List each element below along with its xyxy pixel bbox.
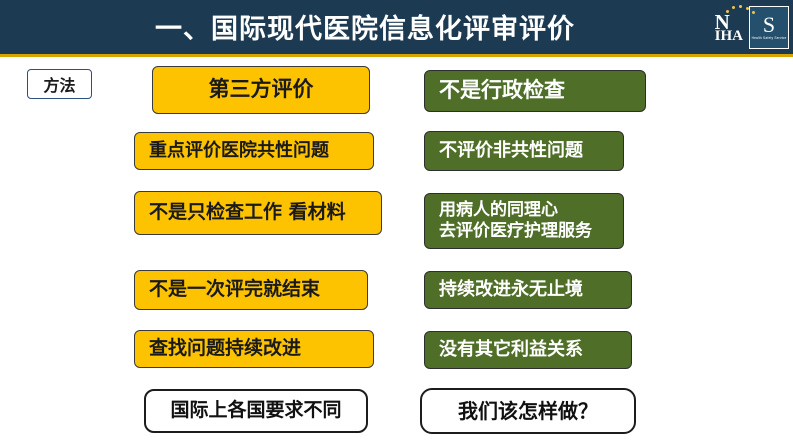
left-box-2-label: 重点评价医院共性问题 [149, 140, 373, 162]
right-box-3-label: 用病人的同理心 去评价医疗护理服务 [439, 200, 623, 241]
left-box-3-label: 不是只检查工作 看材料 [149, 201, 381, 224]
right-box-4: 持续改进永无止境 [424, 271, 632, 309]
left-box-6-label: 国际上各国要求不同 [146, 399, 366, 422]
slide-canvas: 一、国际现代医院信息化评审评价 N IHA S Health Safety Se… [0, 0, 793, 446]
logo-text-line1: N [715, 15, 743, 29]
right-box-5-label: 没有其它利益关系 [439, 339, 631, 361]
stars-icon [724, 5, 764, 17]
right-box-6-label: 我们该怎样做？ [422, 399, 634, 423]
method-tag: 方法 [27, 69, 92, 99]
left-box-1: 第三方评价 [152, 66, 370, 114]
logo: N IHA S Health Safety Service [681, 2, 789, 52]
right-box-4-label: 持续改进永无止境 [439, 279, 631, 301]
emblem-glyph: S [763, 14, 775, 36]
left-box-4: 不是一次评完就结束 [134, 270, 368, 310]
left-box-5: 查找问题持续改进 [134, 330, 374, 368]
right-box-1: 不是行政检查 [424, 70, 646, 112]
method-tag-label: 方法 [43, 72, 75, 96]
right-box-2-label: 不评价非共性问题 [439, 140, 623, 162]
niha-wordmark: N IHA [715, 11, 743, 43]
left-box-2: 重点评价医院共性问题 [134, 132, 374, 170]
right-box-2: 不评价非共性问题 [424, 131, 624, 171]
right-box-6: 我们该怎样做？ [420, 388, 636, 434]
left-box-4-label: 不是一次评完就结束 [149, 278, 367, 301]
right-box-1-label: 不是行政检查 [439, 78, 645, 104]
page-title: 一、国际现代医院信息化评审评价 [0, 7, 730, 46]
right-box-3: 用病人的同理心 去评价医疗护理服务 [424, 193, 624, 249]
left-box-1-label: 第三方评价 [153, 77, 369, 103]
left-box-3: 不是只检查工作 看材料 [134, 191, 382, 235]
right-box-5: 没有其它利益关系 [424, 331, 632, 369]
slide-header: 一、国际现代医院信息化评审评价 N IHA S Health Safety Se… [0, 0, 793, 57]
logo-text-line2: IHA [715, 29, 743, 43]
left-box-5-label: 查找问题持续改进 [149, 337, 373, 360]
left-box-6: 国际上各国要求不同 [144, 389, 368, 433]
emblem-subtitle: Health Safety Service [752, 36, 787, 41]
